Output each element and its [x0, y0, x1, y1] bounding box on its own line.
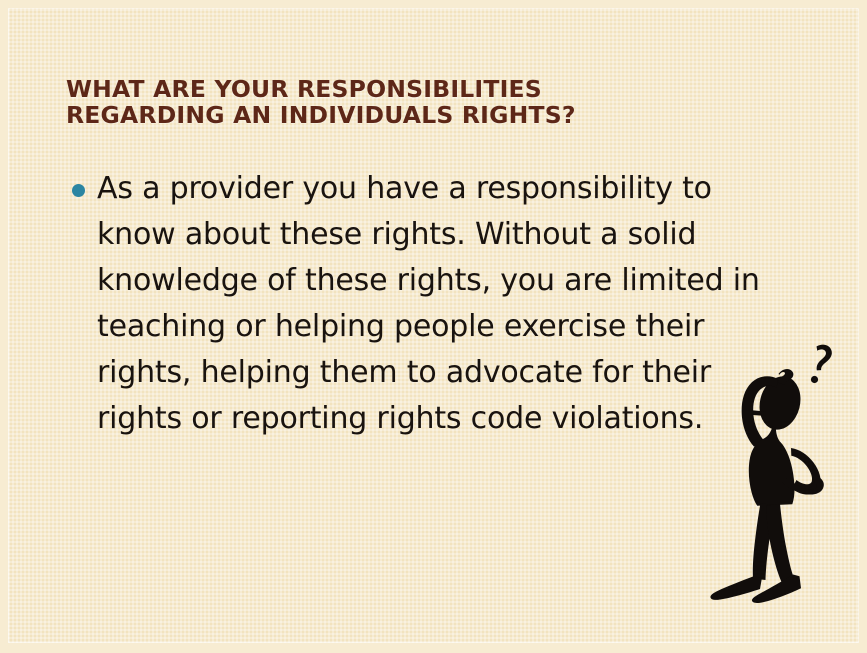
figure-body-shapes	[710, 345, 831, 603]
bullet-dot-icon	[72, 184, 85, 197]
bullet-text: As a provider you have a responsibility …	[97, 171, 760, 436]
figure-right-leg	[766, 504, 794, 582]
slide-title: WHAT ARE YOUR RESPONSIBILITIES REGARDING…	[66, 76, 786, 128]
question-mark-icon	[817, 345, 832, 371]
confused-person-silhouette-svg	[708, 338, 859, 608]
slide-canvas: WHAT ARE YOUR RESPONSIBILITIES REGARDING…	[8, 8, 859, 643]
bullet-item: As a provider you have a responsibility …	[64, 166, 794, 442]
question-mark-dot	[811, 376, 818, 383]
figure-left-foot	[710, 577, 762, 600]
slide: WHAT ARE YOUR RESPONSIBILITIES REGARDING…	[0, 0, 867, 653]
confused-person-silhouette	[708, 338, 859, 608]
slide-body: As a provider you have a responsibility …	[64, 166, 794, 442]
